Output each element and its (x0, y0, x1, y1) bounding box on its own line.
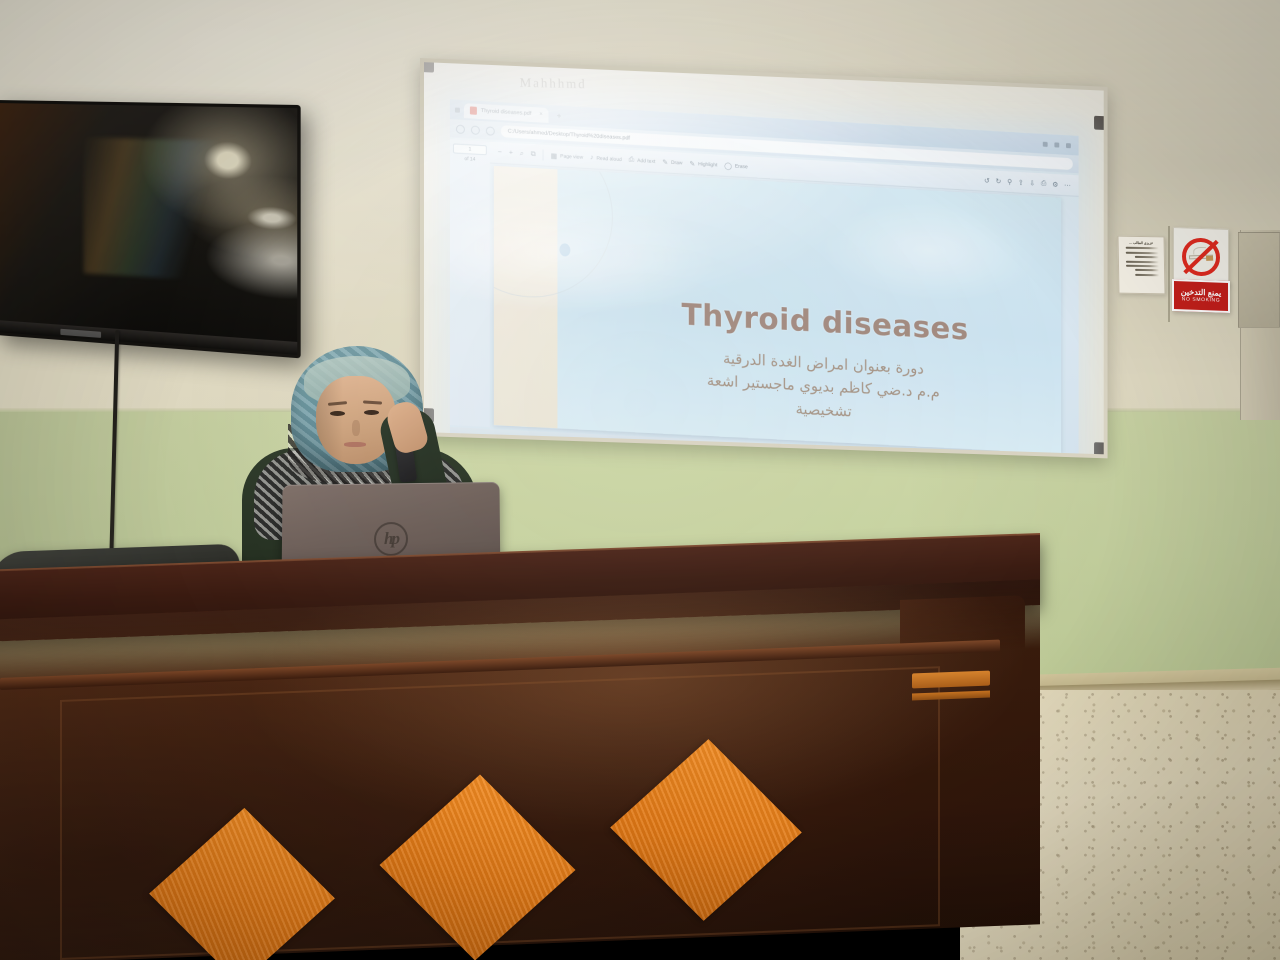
print-icon[interactable]: ⎙ (1041, 180, 1046, 188)
no-smoking-english-label: NO SMOKING (1182, 297, 1221, 303)
browser-tab[interactable]: Thyroid diseases.pdf × (464, 103, 549, 123)
mouth (344, 442, 366, 447)
page-view-label: Page view (560, 153, 583, 160)
draw-pen-icon: ✎ (662, 158, 668, 166)
zoom-out-button[interactable]: − (498, 149, 502, 156)
whiteboard-clip (420, 58, 434, 73)
notice-text-line (1126, 252, 1159, 255)
eyebrow-right (363, 400, 382, 404)
browser-app-icon (455, 107, 460, 112)
slide-decorative-dot (559, 243, 570, 257)
window-controls[interactable] (1043, 141, 1074, 148)
read-aloud-icon: ♪ (590, 154, 593, 161)
pdf-toolbar-right: ↺ ↻ ⚲ ⇪ ⇩ ⎙ ⚙ ⋯ (984, 176, 1071, 189)
page-view-button[interactable]: ▦ Page view (551, 151, 583, 161)
desk-orange-band (912, 671, 990, 689)
notice-text-line (1126, 260, 1159, 263)
slide-subtitle: دورة بعنوان امراض الغدة الدرقية م.م د.ضي… (603, 341, 1042, 433)
whiteboard-handwriting: Mahhhmd (520, 75, 587, 93)
face-shadow (316, 376, 343, 464)
read-aloud-label: Read aloud (596, 155, 621, 162)
settings-icon[interactable]: ⚙ (1052, 180, 1058, 188)
undo-icon[interactable]: ↺ (984, 176, 990, 184)
close-tab-icon[interactable]: × (539, 111, 542, 117)
notice-text-line (1126, 247, 1159, 250)
tv-lens-flare (84, 137, 272, 284)
notice-text-line (1135, 269, 1159, 271)
toolbar-separator (543, 150, 544, 161)
maximize-icon[interactable] (1054, 142, 1059, 147)
draw-label: Draw (671, 159, 683, 166)
sign-mounting-post (1168, 226, 1170, 322)
nose (352, 420, 360, 436)
add-text-button[interactable]: ⎙ Add text (629, 156, 656, 165)
projected-screen: Thyroid diseases.pdf × + C:/Users/ahmed/… (450, 99, 1079, 458)
pdf-page-total: of 14 (453, 155, 487, 163)
no-smoking-symbol-sign (1173, 227, 1229, 287)
back-arrow-icon[interactable] (456, 124, 465, 134)
notice-title: عزيزي الطالب ... (1122, 241, 1161, 246)
save-icon[interactable]: ⇩ (1029, 179, 1035, 187)
draw-button[interactable]: ✎ Draw (662, 158, 682, 167)
page-view-icon: ▦ (551, 151, 558, 159)
new-tab-icon[interactable]: + (557, 111, 562, 120)
erase-icon: ◯ (724, 161, 732, 169)
wall-mounted-tv[interactable] (0, 100, 301, 358)
zoom-in-button[interactable]: + (509, 150, 513, 157)
notice-text-line (1126, 265, 1159, 268)
highlight-icon: ✎ (689, 159, 695, 167)
slide-title: Thyroid diseases (613, 294, 1036, 351)
browser-tab-title: Thyroid diseases.pdf (481, 108, 532, 117)
pdf-slide-page: Thyroid diseases دورة بعنوان امراض الغدة… (494, 166, 1061, 454)
pdf-file-icon (470, 106, 477, 114)
erase-button[interactable]: ◯ Erase (724, 161, 748, 170)
add-text-label: Add text (637, 157, 655, 164)
notice-text-line (1135, 274, 1159, 276)
notice-text-line (1135, 256, 1159, 258)
share-icon[interactable]: ⇪ (1018, 178, 1024, 186)
whiteboard: Mahhhmd Thyroid diseases.pdf × + (420, 58, 1108, 458)
no-smoking-text-sign: يمنع التدخين NO SMOKING (1172, 279, 1230, 313)
search-icon[interactable]: ⚲ (1007, 178, 1012, 186)
read-aloud-button[interactable]: ♪ Read aloud (590, 154, 622, 163)
erase-label: Erase (735, 163, 748, 170)
tv-brand-logo (61, 329, 102, 338)
arabic-notice-paper: عزيزي الطالب ... (1117, 236, 1165, 295)
whiteboard-clip (1094, 442, 1108, 456)
minimize-icon[interactable] (1043, 141, 1048, 146)
redo-icon[interactable]: ↻ (996, 177, 1002, 185)
room-scene: Mahhhmd Thyroid diseases.pdf × + (0, 0, 1280, 960)
pdf-page-number-input[interactable]: 1 (453, 143, 487, 155)
wall-utility-box (1238, 232, 1280, 328)
forward-arrow-icon[interactable] (471, 125, 480, 135)
whiteboard-clip (1094, 116, 1108, 130)
add-text-icon: ⎙ (629, 156, 635, 164)
highlight-label: Highlight (698, 161, 717, 168)
slide-decorative-arc (494, 166, 613, 302)
more-icon[interactable]: ⋯ (1064, 181, 1071, 189)
fit-to-page-icon[interactable]: ⌕ (520, 150, 524, 158)
refresh-icon[interactable] (486, 126, 495, 136)
rotate-icon[interactable]: ⧉ (531, 150, 536, 158)
hp-logo-icon: hp (374, 522, 408, 556)
eye-right (364, 410, 379, 415)
close-window-icon[interactable] (1066, 143, 1071, 148)
highlight-button[interactable]: ✎ Highlight (689, 159, 717, 169)
